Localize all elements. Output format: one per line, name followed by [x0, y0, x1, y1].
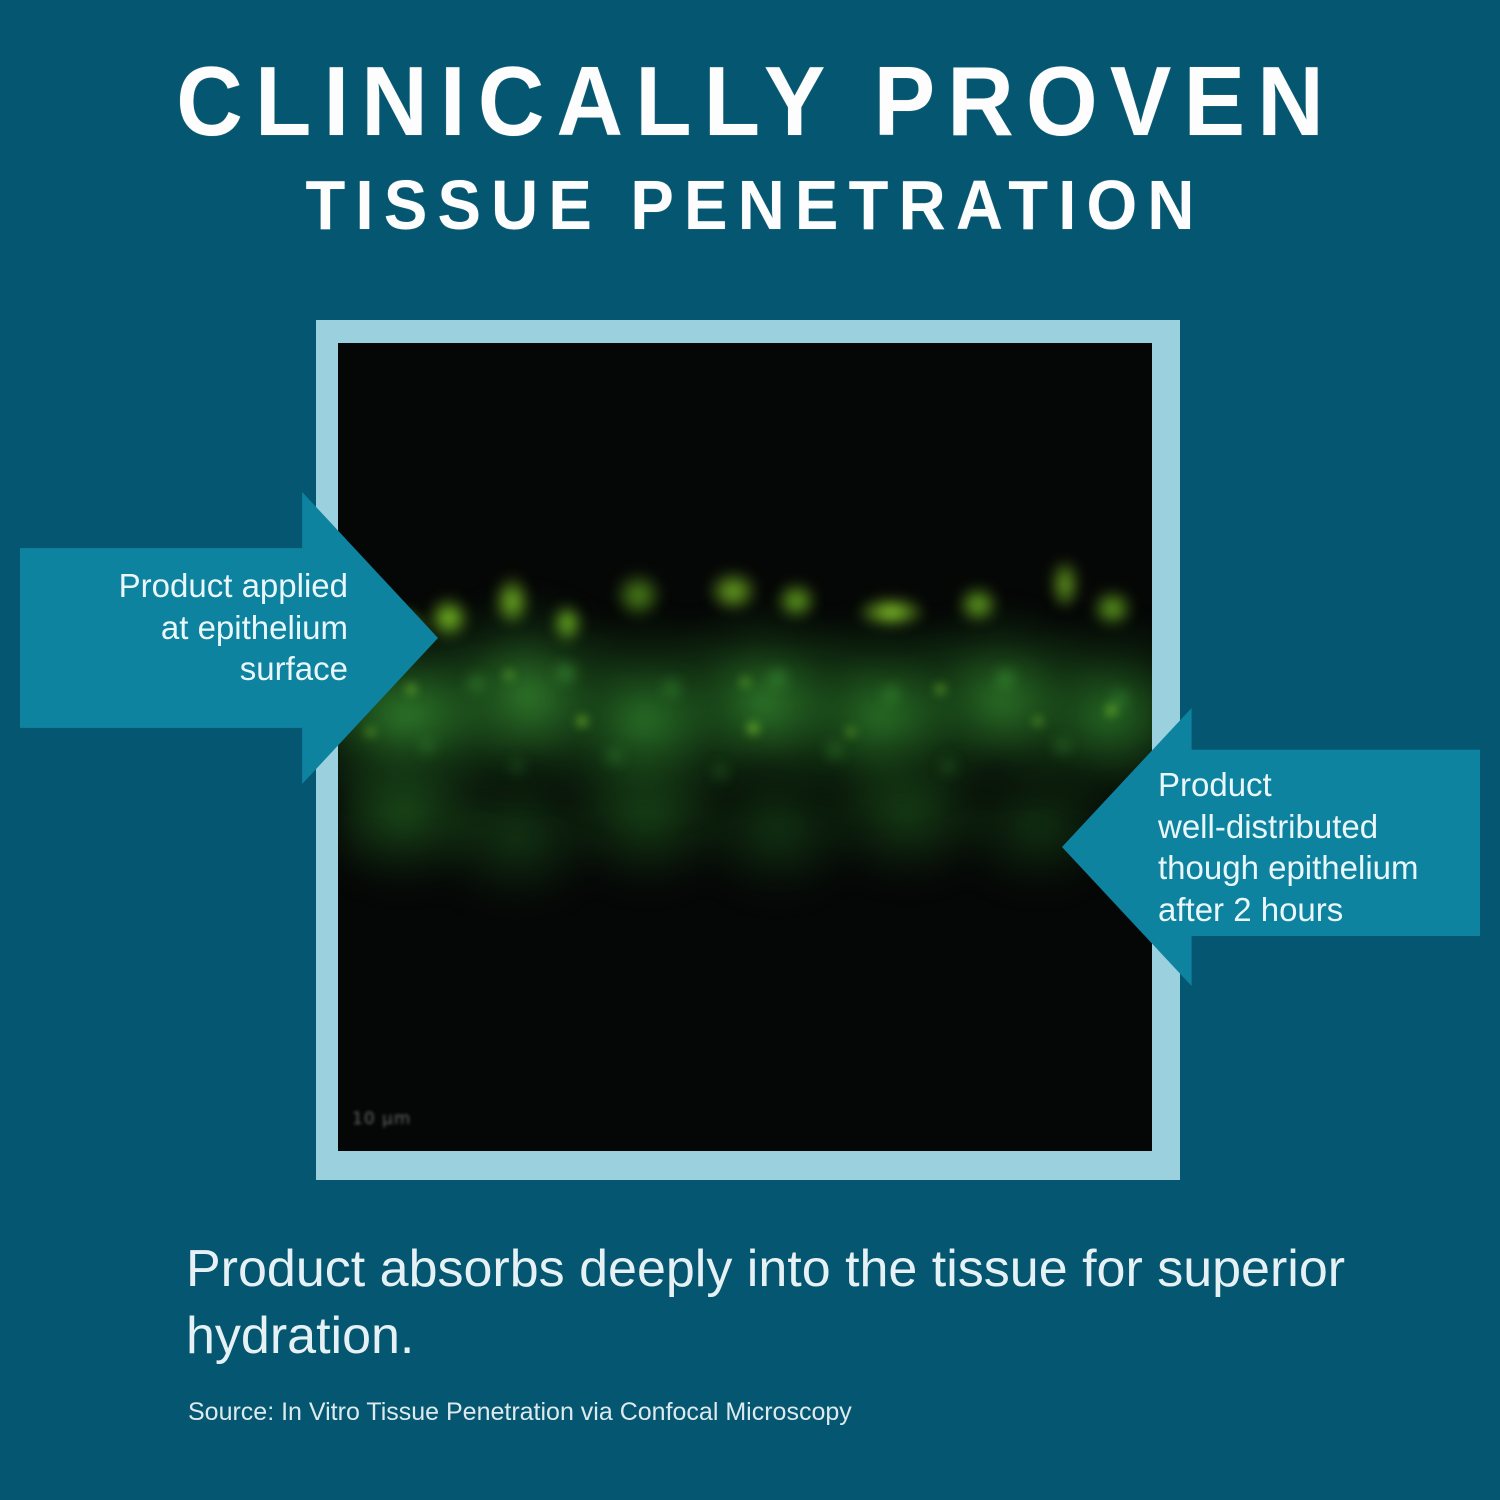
callout-left-label: Product applied at epithelium surface	[48, 565, 348, 690]
page-title: CLINICALLY PROVEN TISSUE PENETRATION	[0, 52, 1500, 242]
summary-text: Product absorbs deeply into the tissue f…	[186, 1236, 1376, 1369]
tissue-fade-top	[338, 343, 1152, 618]
microscopy-image: 10 µm	[338, 343, 1152, 1151]
fluorescence-tissue-render	[338, 343, 1152, 1151]
infographic-poster: CLINICALLY PROVEN TISSUE PENETRATION 10 …	[0, 0, 1500, 1500]
title-line-secondary: TISSUE PENETRATION	[53, 169, 1448, 243]
source-caption: Source: In Vitro Tissue Penetration via …	[188, 1398, 852, 1427]
tissue-fade-bottom	[338, 812, 1152, 1151]
microscopy-image-frame: 10 µm	[316, 320, 1180, 1180]
callout-arrow-right: Product well-distributed though epitheli…	[1062, 708, 1480, 986]
callout-arrow-left: Product applied at epithelium surface	[20, 492, 438, 784]
title-line-primary: CLINICALLY PROVEN	[45, 52, 1455, 152]
scale-bar-watermark: 10 µm	[352, 1109, 411, 1129]
callout-right-label: Product well-distributed though epitheli…	[1158, 764, 1500, 930]
tissue-bright-spots	[338, 650, 1152, 828]
